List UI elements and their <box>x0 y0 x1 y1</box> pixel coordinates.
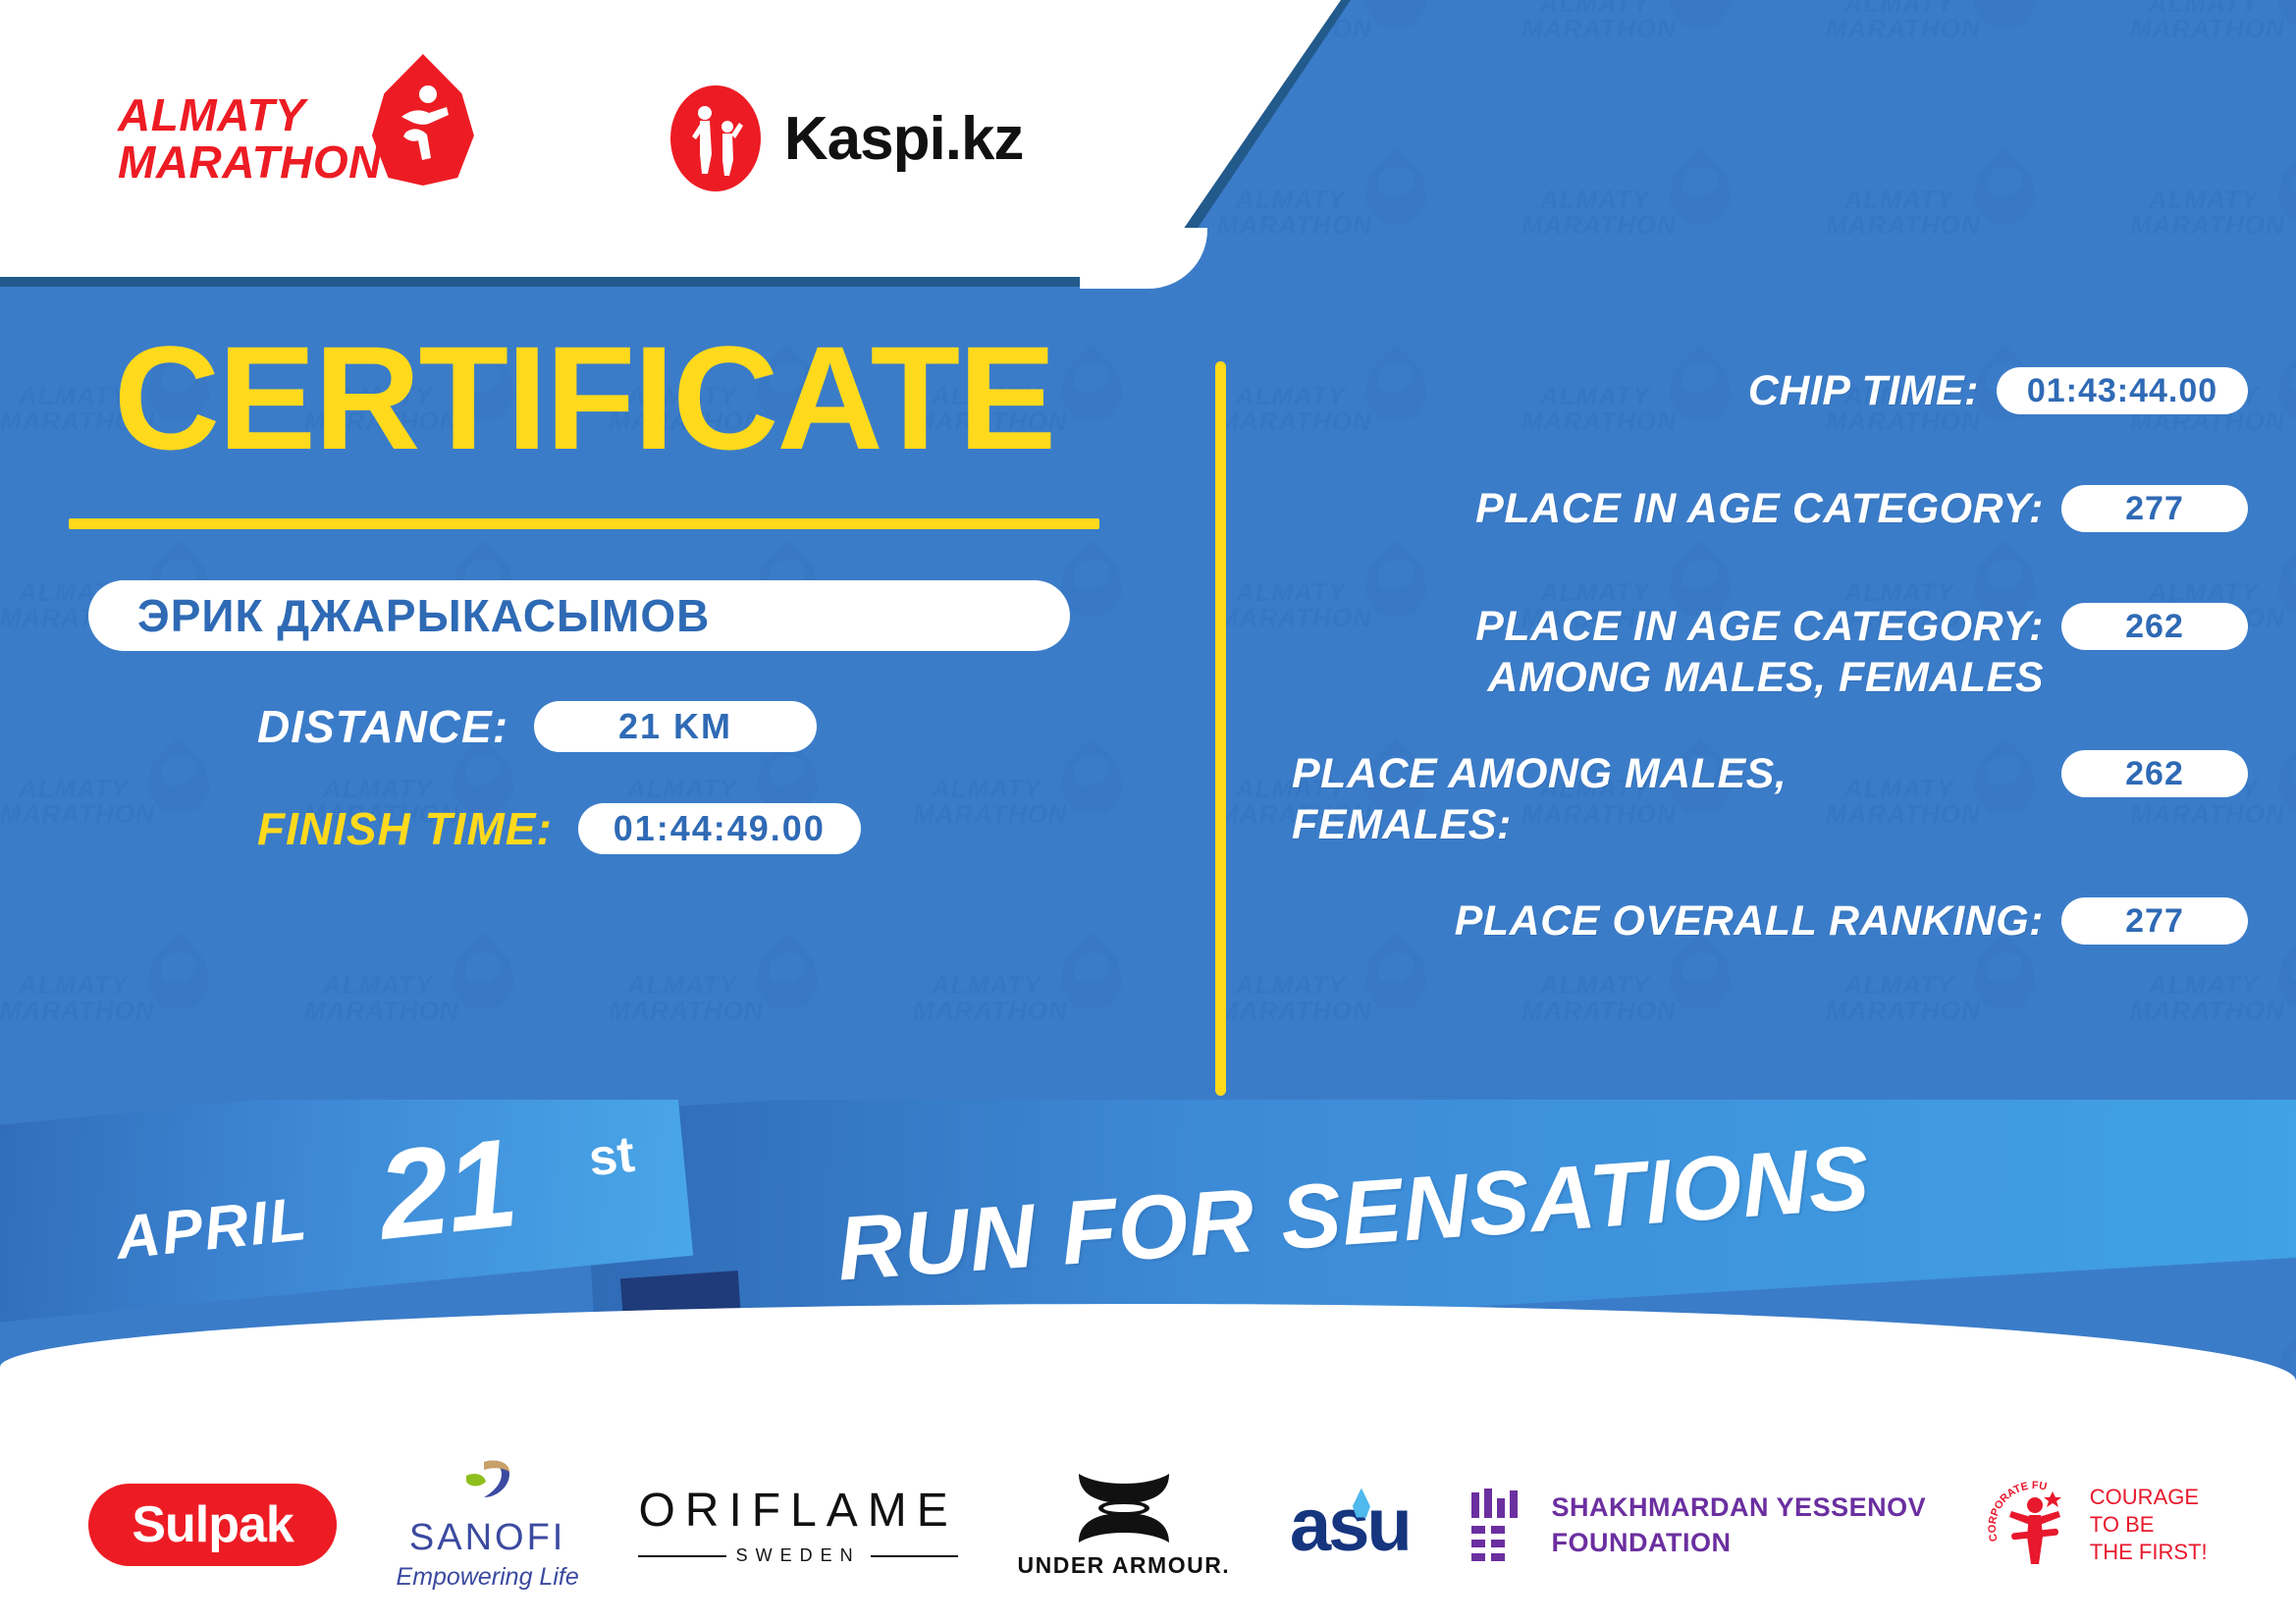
place-gender-value-pill: 262 <box>2061 750 2248 797</box>
distance-label: DISTANCE: <box>257 700 508 753</box>
runner-silhouette-icon <box>392 81 458 164</box>
results-column: CHIP TIME: 01:43:44.00 PLACE IN AGE CATE… <box>1266 365 2248 1013</box>
ribbon-bottom-curve <box>0 1304 2296 1424</box>
sponsor-bar: Sulpak SANOFI Empowering Life ORIFLAME S… <box>0 1426 2296 1624</box>
kaspi-people-icon <box>670 85 761 191</box>
cf-line-1: COURAGE <box>2090 1484 2208 1511</box>
distance-value-pill: 21 KM <box>534 701 817 752</box>
place-overall-value: 277 <box>2125 902 2184 941</box>
ribbon-day-suffix: st <box>586 1125 637 1189</box>
yessenov-mark-icon <box>1469 1489 1530 1561</box>
participant-name: ЭРИК ДЖАРЫКАСЫМОВ <box>137 589 710 642</box>
cf-line-2: TO BE <box>2090 1511 2208 1539</box>
place-age-category-gender-label: PLACE IN AGE CATEGORY: AMONG MALES, FEMA… <box>1266 601 2061 703</box>
participant-name-field: ЭРИК ДЖАРЫКАСЫМОВ <box>88 580 1070 651</box>
sponsor-under-armour: UNDER ARMOUR. <box>1018 1472 1231 1579</box>
result-row-age-category: PLACE IN AGE CATEGORY: 277 <box>1266 483 2248 556</box>
sulpak-logo: Sulpak <box>88 1484 337 1566</box>
left-column: CERTIFICATE ЭРИК ДЖАРЫКАСЫМОВ DISTANCE: … <box>0 324 1158 855</box>
result-row-chip-time: CHIP TIME: 01:43:44.00 <box>1266 365 2248 438</box>
corporate-fund-mark-icon: CORPORATE FUND <box>1986 1478 2080 1572</box>
courage-figure-icon: CORPORATE FUND <box>1986 1478 2080 1572</box>
kaspi-mark-icon <box>670 85 761 191</box>
label-line-1: PLACE AMONG MALES, <box>1292 748 2044 799</box>
yessenov-line-1: SHAKHMARDAN YESSENOV <box>1552 1489 1927 1525</box>
place-age-category-label: PLACE IN AGE CATEGORY: <box>1266 483 2061 534</box>
asu-wordmark: asu <box>1290 1483 1410 1568</box>
sponsor-yessenov-foundation: SHAKHMARDAN YESSENOV FOUNDATION <box>1469 1489 1927 1561</box>
label-line-2: FEMALES: <box>1292 799 2044 850</box>
under-armour-wordmark: UNDER ARMOUR. <box>1018 1552 1231 1579</box>
result-row-overall: PLACE OVERALL RANKING: 277 <box>1266 895 2248 968</box>
certificate-title: CERTIFICATE <box>0 324 1158 471</box>
asu-text: asu <box>1290 1484 1410 1567</box>
place-age-category-value-pill: 277 <box>2061 485 2248 532</box>
distance-value: 21 KM <box>618 706 732 747</box>
cf-line-3: THE FIRST! <box>2090 1539 2208 1566</box>
finish-time-value-pill: 01:44:49.00 <box>578 803 861 854</box>
event-ribbon: APRIL 21 st RUN FOR SENSATIONS <box>0 1100 2296 1424</box>
sanofi-tagline: Empowering Life <box>397 1563 579 1592</box>
almaty-marathon-wordmark: ALMATY MARATHON <box>118 91 382 186</box>
sponsor-corporate-fund: CORPORATE FUND COURAGE TO BE THE FIRST! <box>1986 1478 2208 1572</box>
kaspi-wordmark: Kaspi.kz <box>784 104 1024 174</box>
ribbon-day: 21 <box>372 1110 522 1269</box>
kaspi-logo: Kaspi.kz <box>670 85 1024 191</box>
yessenov-wordmark: SHAKHMARDAN YESSENOV FOUNDATION <box>1552 1489 1927 1560</box>
vertical-divider <box>1215 361 1226 1096</box>
sanofi-mark-icon <box>460 1458 515 1513</box>
place-age-category-gender-value: 262 <box>2125 608 2184 646</box>
result-row-gender: PLACE AMONG MALES, FEMALES: 262 <box>1266 748 2248 850</box>
label-line-1: PLACE IN AGE CATEGORY: <box>1266 601 2044 652</box>
chip-time-value-pill: 01:43:44.00 <box>1997 367 2248 414</box>
chip-time-value: 01:43:44.00 <box>2027 372 2217 410</box>
place-overall-label: PLACE OVERALL RANKING: <box>1266 895 2061 947</box>
yessenov-line-2: FOUNDATION <box>1552 1525 1927 1560</box>
almaty-marathon-logo: ALMATY MARATHON <box>118 91 474 186</box>
under-armour-logo-icon <box>1071 1472 1177 1544</box>
place-gender-value: 262 <box>2125 755 2184 793</box>
yessenov-bars-icon <box>1469 1489 1530 1561</box>
place-age-category-value: 277 <box>2125 490 2184 528</box>
sanofi-swirl-icon <box>460 1458 515 1513</box>
finish-time-row: FINISH TIME: 01:44:49.00 <box>257 802 1158 855</box>
finish-time-value: 01:44:49.00 <box>614 808 826 849</box>
sponsor-oriflame: ORIFLAME SWEDEN <box>638 1484 957 1566</box>
divider-line-right <box>871 1555 958 1557</box>
sponsor-asu: asu <box>1290 1483 1410 1568</box>
divider-line-left <box>638 1555 725 1557</box>
finish-time-label: FINISH TIME: <box>257 802 553 855</box>
chip-time-label: CHIP TIME: <box>1266 365 1997 416</box>
under-armour-mark-icon <box>1071 1472 1177 1544</box>
place-overall-value-pill: 277 <box>2061 897 2248 945</box>
oriflame-wordmark: ORIFLAME <box>638 1484 957 1538</box>
result-row-age-category-gender: PLACE IN AGE CATEGORY: AMONG MALES, FEMA… <box>1266 601 2248 703</box>
sponsor-sulpak: Sulpak <box>88 1484 337 1566</box>
sponsor-sanofi: SANOFI Empowering Life <box>397 1458 579 1592</box>
sanofi-wordmark: SANOFI <box>409 1517 565 1559</box>
certificate-page: ALMATYMARATHONALMATYMARATHONALMATYMARATH… <box>0 0 2296 1624</box>
oriflame-sub: SWEDEN <box>638 1545 957 1566</box>
oriflame-tagline: SWEDEN <box>736 1545 861 1566</box>
distance-row: DISTANCE: 21 KM <box>257 700 1158 753</box>
runner-drop-icon <box>372 54 474 186</box>
label-line-2: AMONG MALES, FEMALES <box>1266 652 2044 703</box>
place-age-category-gender-value-pill: 262 <box>2061 603 2248 650</box>
header-logos: ALMATY MARATHON <box>0 0 1158 277</box>
logo-line-1: ALMATY <box>118 91 382 138</box>
corporate-fund-tagline: COURAGE TO BE THE FIRST! <box>2090 1484 2208 1566</box>
logo-line-2: MARATHON <box>118 138 382 186</box>
title-underline <box>69 518 1099 529</box>
place-gender-label: PLACE AMONG MALES, FEMALES: <box>1266 748 2061 850</box>
